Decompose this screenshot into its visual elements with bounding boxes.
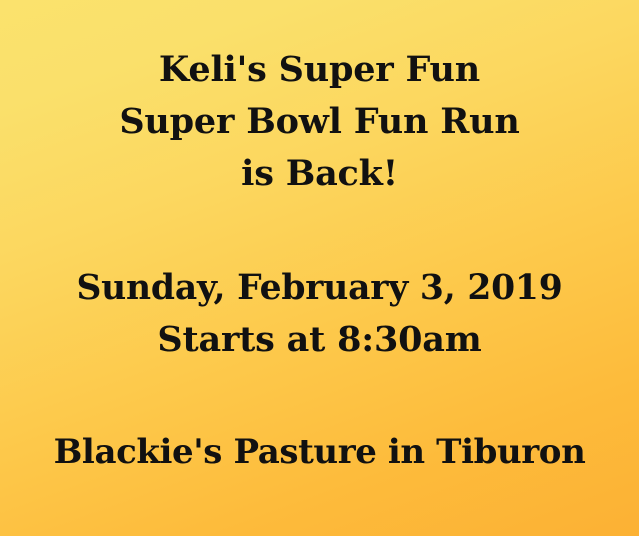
event-date-line: Sunday, February 3, 2019 [0,262,639,314]
headline-line-1: Keli's Super Fun [0,44,639,96]
event-flyer: Keli's Super Fun Super Bowl Fun Run is B… [0,0,639,536]
headline-line-2: Super Bowl Fun Run [0,96,639,148]
datetime-block: Sunday, February 3, 2019 Starts at 8:30a… [0,262,639,366]
event-location-line: Blackie's Pasture in Tiburon [0,426,639,478]
headline-line-3: is Back! [0,148,639,200]
headline-block: Keli's Super Fun Super Bowl Fun Run is B… [0,44,639,200]
location-block: Blackie's Pasture in Tiburon [0,426,639,478]
event-start-time-line: Starts at 8:30am [0,314,639,366]
